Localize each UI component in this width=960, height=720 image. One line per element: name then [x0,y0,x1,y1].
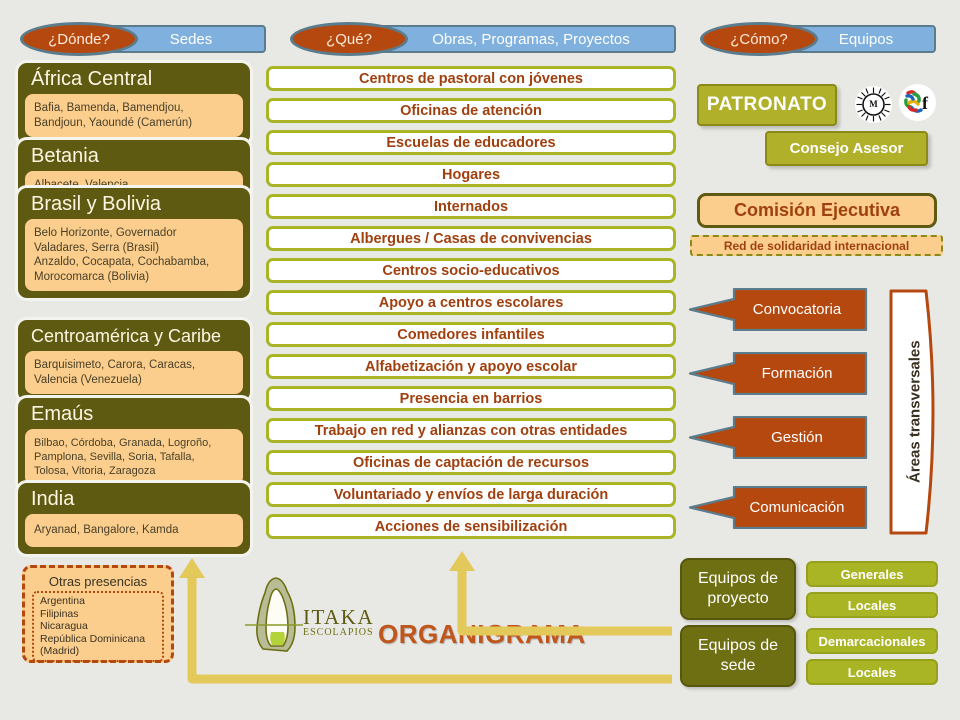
sede-card-india[interactable]: India Aryanad, Bangalore, Kamda [18,483,250,554]
service-item[interactable]: Oficinas de atención [266,98,676,123]
service-item[interactable]: Oficinas de captación de recursos [266,450,676,475]
service-item[interactable]: Centros socio-educativos [266,258,676,283]
sede-card-centroamerica-caribe[interactable]: Centroamérica y Caribe Barquisimeto, Car… [18,320,250,401]
area-chevron-gestion[interactable]: Gestión [688,416,868,459]
sede-title: Betania [25,143,243,171]
sede-title: África Central [25,66,243,94]
area-label: Comunicación [734,486,860,529]
sede-card-africa-central[interactable]: África Central Bafia, Bamenda, Bamendjou… [18,63,250,144]
equipos-proyecto-sub-generales[interactable]: Generales [806,561,938,587]
organigrama-canvas: Sedes ¿Dónde? Obras, Programas, Proyecto… [0,0,960,720]
comision-ejecutiva-box[interactable]: Comisión Ejecutiva [697,193,937,228]
service-item[interactable]: Internados [266,194,676,219]
service-item[interactable]: Voluntariado y envíos de larga duración [266,482,676,507]
list-item: República Dominicana [40,633,156,646]
service-item[interactable]: Apoyo a centros escolares [266,290,676,315]
list-item: Filipinas [40,608,156,621]
sede-title: India [25,486,243,514]
sede-card-emaus[interactable]: Emaús Bilbao, Córdoba, Granada, Logroño,… [18,398,250,492]
area-chevron-formacion[interactable]: Formación [688,352,868,395]
sede-title: Centroamérica y Caribe [25,323,243,351]
svg-text:f: f [922,93,929,113]
patronato-box[interactable]: PATRONATO [697,84,837,126]
sede-places: Bafia, Bamenda, Bamendjou, Bandjoun, Yao… [25,94,243,137]
equipos-de-sede-box[interactable]: Equipos de sede [680,625,796,687]
escolapios-seal-logo: M [855,86,892,123]
otras-presencias-box[interactable]: Otras presencias Argentina Filipinas Nic… [22,565,174,663]
otras-presencias-list: Argentina Filipinas Nicaragua República … [32,591,164,662]
header-donde-question: ¿Dónde? [20,22,138,56]
page-title: ORGANIGRAMA [378,619,586,650]
arrowhead-center [449,551,475,571]
services-list: Centros de pastoral con jóvenes Oficinas… [266,66,676,546]
service-item[interactable]: Centros de pastoral con jóvenes [266,66,676,91]
service-item[interactable]: Albergues / Casas de convivencias [266,226,676,251]
areas-transversales-banner: Áreas transversales [888,288,942,536]
equipos-de-sede-label: Equipos de sede [682,636,794,676]
area-label: Convocatoria [734,288,860,331]
red-solidaridad-box[interactable]: Red de solidaridad internacional [690,235,943,256]
area-chevron-convocatoria[interactable]: Convocatoria [688,288,868,331]
svg-text:M: M [869,99,878,109]
itaka-colors-logo: f [899,84,936,121]
equipos-de-proyecto-label: Equipos de proyecto [682,569,794,609]
area-chevron-comunicacion[interactable]: Comunicación [688,486,868,529]
itaka-escolapios-logo: ITAKA ESCOLAPIOS [243,573,355,655]
sede-places: Aryanad, Bangalore, Kamda [25,514,243,547]
service-item[interactable]: Presencia en barrios [266,386,676,411]
otras-presencias-title: Otras presencias [32,573,164,591]
service-item[interactable]: Trabajo en red y alianzas con otras enti… [266,418,676,443]
area-label: Formación [734,352,860,395]
header-que-question: ¿Qué? [290,22,408,56]
list-item: Argentina [40,595,156,608]
service-item[interactable]: Alfabetización y apoyo escolar [266,354,676,379]
areas-transversales-label: Áreas transversales [888,288,942,536]
sede-places: Belo Horizonte, Governador Valadares, Se… [25,219,243,291]
header-como-question: ¿Cómo? [700,22,818,56]
arrowhead-left [179,558,205,578]
list-item: (Madrid) [40,645,156,658]
sede-title: Brasil y Bolivia [25,191,243,219]
sede-places: Bilbao, Córdoba, Granada, Logroño, Pampl… [25,429,243,485]
equipos-sede-sub-demarcacionales[interactable]: Demarcacionales [806,628,938,654]
service-item[interactable]: Hogares [266,162,676,187]
equipos-proyecto-sub-locales[interactable]: Locales [806,592,938,618]
sede-card-brasil-bolivia[interactable]: Brasil y Bolivia Belo Horizonte, Governa… [18,188,250,298]
consejo-asesor-box[interactable]: Consejo Asesor [765,131,928,166]
area-label: Gestión [734,416,860,459]
list-item: Nicaragua [40,620,156,633]
service-item[interactable]: Escuelas de educadores [266,130,676,155]
sede-title: Emaús [25,401,243,429]
service-item[interactable]: Comedores infantiles [266,322,676,347]
escolapios-wordmark: ESCOLAPIOS [303,627,374,638]
equipos-de-proyecto-box[interactable]: Equipos de proyecto [680,558,796,620]
sede-places: Barquisimeto, Carora, Caracas, Valencia … [25,351,243,394]
service-item[interactable]: Acciones de sensibilización [266,514,676,539]
equipos-sede-sub-locales[interactable]: Locales [806,659,938,685]
